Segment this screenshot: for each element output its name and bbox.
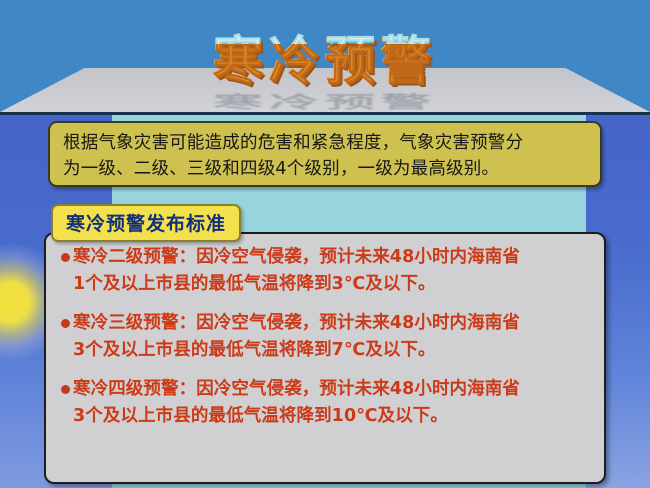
- title-snow-text: 寒冷预警: [213, 20, 437, 44]
- section-badge-label: 寒冷预警发布标准: [66, 213, 226, 235]
- list-item: 寒冷四级预警：因冷空气侵袭，预计未来48小时内海南省 3个及以上市县的最低气温将…: [56, 376, 590, 430]
- intro-box: 根据气象灾害可能造成的危害和紧急程度，气象灾害预警分 为一级、二级、三级和四级4…: [48, 121, 602, 187]
- poster-canvas: 寒冷预警 寒冷预警 寒冷预警 根据气象灾害可能造成的危害和紧急程度，气象灾害预警…: [0, 0, 650, 488]
- title-snow-cap: 寒冷预警: [213, 20, 437, 44]
- list-item: 寒冷二级预警：因冷空气侵袭，预计未来48小时内海南省 1个及以上市县的最低气温将…: [56, 244, 590, 298]
- section-badge: 寒冷预警发布标准: [51, 204, 241, 242]
- bullet-icon: [61, 319, 70, 328]
- header-divider: [0, 112, 650, 115]
- warning-text: 寒冷四级预警：因冷空气侵袭，预计未来48小时内海南省 3个及以上市县的最低气温将…: [73, 376, 590, 430]
- title-area: 寒冷预警 寒冷预警 寒冷预警: [0, 22, 650, 94]
- list-item: 寒冷三级预警：因冷空气侵袭，预计未来48小时内海南省 3个及以上市县的最低气温将…: [56, 310, 590, 364]
- warnings-panel: 寒冷二级预警：因冷空气侵袭，预计未来48小时内海南省 1个及以上市县的最低气温将…: [44, 232, 606, 484]
- bullet-icon: [61, 385, 70, 394]
- intro-text: 根据气象灾害可能造成的危害和紧急程度，气象灾害预警分 为一级、二级、三级和四级4…: [63, 130, 587, 182]
- warning-text: 寒冷三级预警：因冷空气侵袭，预计未来48小时内海南省 3个及以上市县的最低气温将…: [73, 310, 590, 364]
- header-banner: 寒冷预警 寒冷预警 寒冷预警: [0, 0, 650, 112]
- page-title: 寒冷预警 寒冷预警: [213, 22, 437, 94]
- bullet-icon: [61, 253, 70, 262]
- warning-text: 寒冷二级预警：因冷空气侵袭，预计未来48小时内海南省 1个及以上市县的最低气温将…: [73, 244, 590, 298]
